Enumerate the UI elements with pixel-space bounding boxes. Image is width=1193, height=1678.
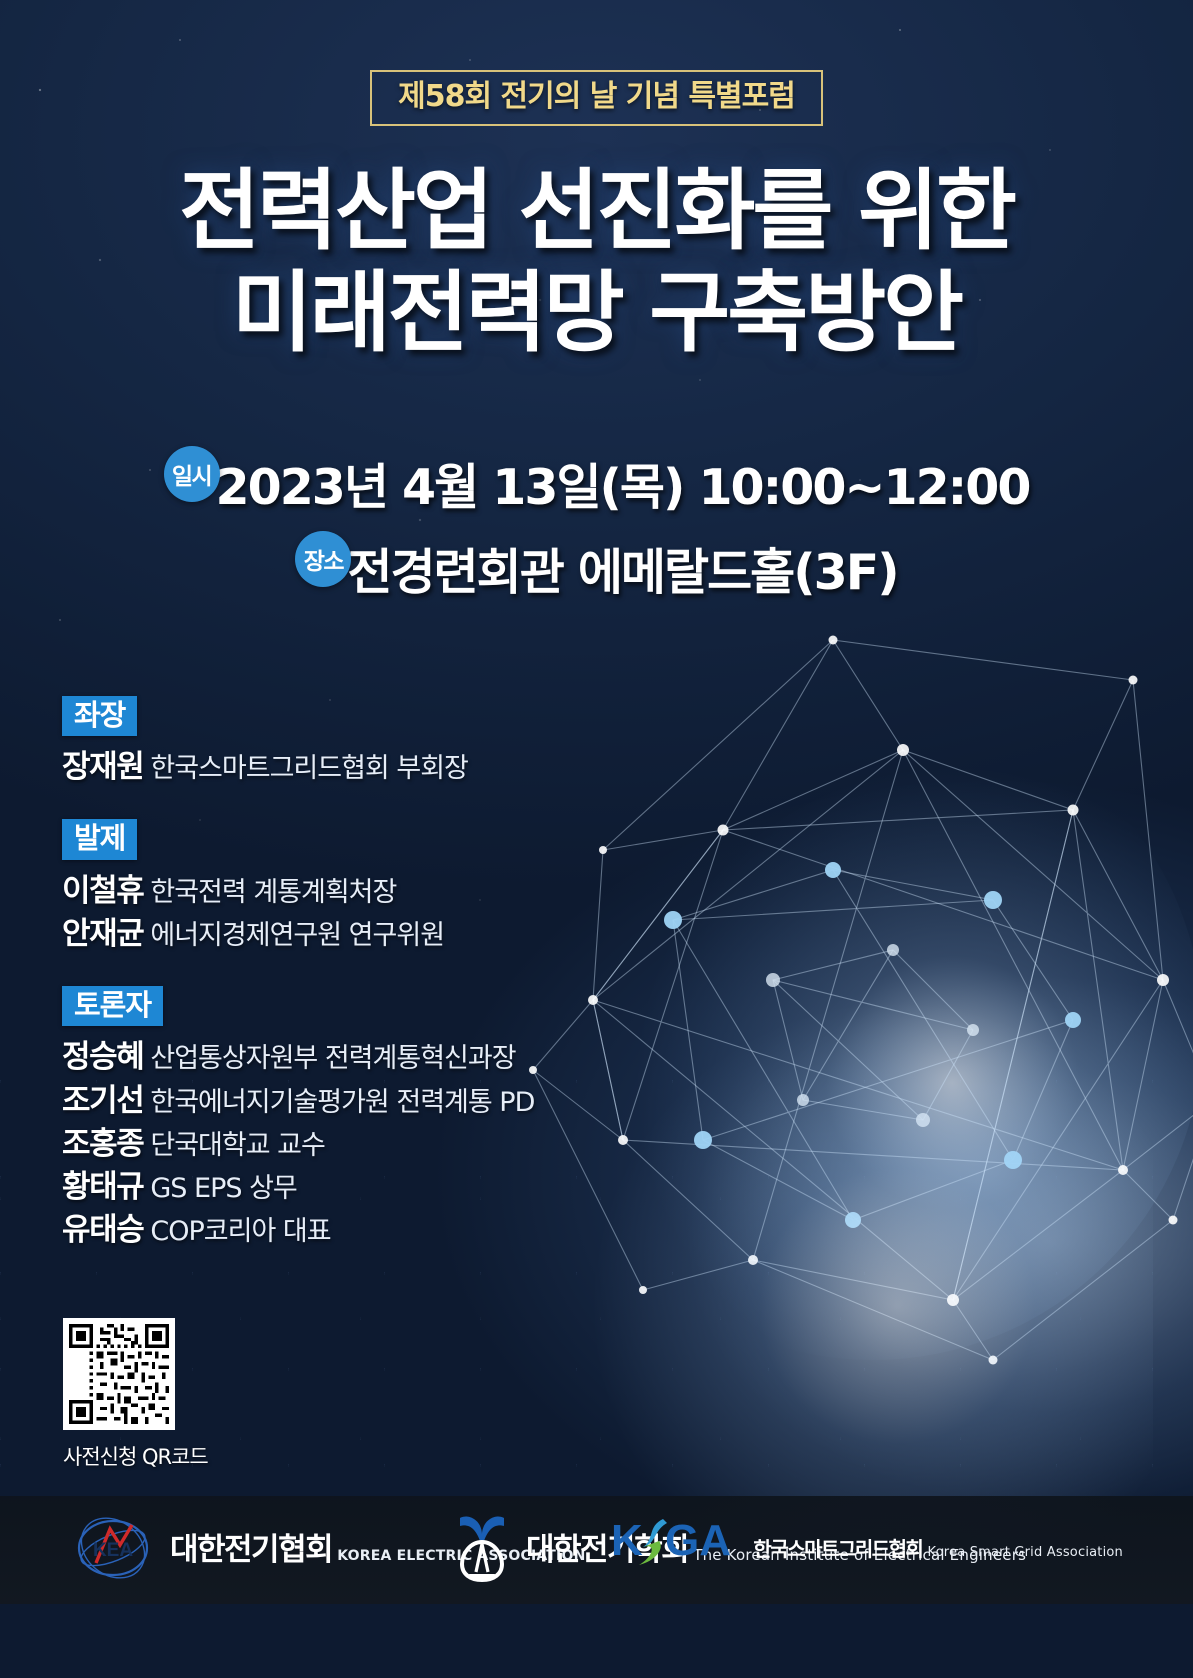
qr-block[interactable]: 사전신청 QR코드 bbox=[63, 1318, 208, 1471]
person-row: 장재원한국스마트그리드협회 부회장 bbox=[62, 748, 622, 787]
svg-text:GA: GA bbox=[665, 1516, 731, 1565]
venue-chip: 장소 bbox=[295, 531, 351, 587]
page-title: 전력산업 선진화를 위한 미래전력망 구축방안 bbox=[0, 160, 1193, 364]
kea-logo-icon: KEA bbox=[70, 1515, 156, 1585]
qr-code-icon[interactable] bbox=[63, 1318, 175, 1430]
person-role: 에너지경제연구원 연구위원 bbox=[150, 920, 444, 951]
event-venue-row: 장소 전경련회관 에메랄드홀(3F) bbox=[0, 533, 1193, 604]
event-poster: 제58회 전기의 날 기념 특별포럼 전력산업 선진화를 위한 미래전력망 구축… bbox=[0, 0, 1193, 1678]
speakers-section: 좌장 장재원한국스마트그리드협회 부회장 발제 이철휴한국전력 계통계획처장 안… bbox=[62, 696, 622, 1250]
event-datetime-row: 일시 2023년 4월 13일(목) 10:00~12:00 bbox=[0, 448, 1193, 519]
person-row: 이철휴한국전력 계통계획처장 bbox=[62, 872, 622, 911]
ksga-name-ko: 한국스마트그리드협회 bbox=[753, 1537, 922, 1561]
ksga-name-en: Korea Smart Grid Association bbox=[928, 1545, 1123, 1560]
person-row: 정승혜산업통상자원부 전력계통혁신과장 bbox=[62, 1038, 622, 1077]
group-tag-presenters: 발제 bbox=[62, 819, 137, 859]
svg-text:K: K bbox=[611, 1516, 643, 1565]
person-name: 안재균 bbox=[62, 916, 143, 952]
kiee-logo-icon bbox=[452, 1512, 512, 1588]
person-name: 이철휴 bbox=[62, 873, 143, 909]
person-name: 유태승 bbox=[62, 1212, 143, 1248]
person-role: 단국대학교 교수 bbox=[150, 1130, 324, 1161]
person-role: GS EPS 상무 bbox=[150, 1173, 296, 1204]
person-name: 조홍종 bbox=[62, 1126, 143, 1162]
kea-name-ko: 대한전기협회 bbox=[170, 1532, 332, 1568]
datetime-chip: 일시 bbox=[164, 446, 220, 502]
speaker-group-panelists: 토론자 정승혜산업통상자원부 전력계통혁신과장 조기선한국에너지기술평가원 전력… bbox=[62, 986, 622, 1250]
title-line-2: 미래전력망 구축방안 bbox=[0, 262, 1193, 364]
forum-badge: 제58회 전기의 날 기념 특별포럼 bbox=[370, 70, 823, 126]
ksga-logo-icon: K GA bbox=[609, 1513, 739, 1587]
qr-caption: 사전신청 QR코드 bbox=[63, 1441, 208, 1471]
event-info: 일시 2023년 4월 13일(목) 10:00~12:00 장소 전경련회관 … bbox=[0, 448, 1193, 618]
group-tag-chair: 좌장 bbox=[62, 696, 137, 736]
person-row: 조홍종단국대학교 교수 bbox=[62, 1125, 622, 1164]
person-role: 한국스마트그리드협회 부회장 bbox=[150, 753, 468, 784]
speaker-group-chair: 좌장 장재원한국스마트그리드협회 부회장 bbox=[62, 696, 622, 787]
group-tag-panelists: 토론자 bbox=[62, 986, 163, 1026]
person-name: 장재원 bbox=[62, 749, 143, 785]
event-datetime: 2023년 4월 13일(목) 10:00~12:00 bbox=[216, 448, 1030, 519]
ksga-logo-text: 한국스마트그리드협회 Korea Smart Grid Association bbox=[753, 1538, 1123, 1563]
person-role: COP코리아 대표 bbox=[150, 1216, 330, 1247]
forum-badge-wrap: 제58회 전기의 날 기념 특별포럼 bbox=[0, 70, 1193, 126]
person-row: 황태규GS EPS 상무 bbox=[62, 1168, 622, 1207]
bottom-strip bbox=[0, 1604, 1193, 1678]
person-name: 조기선 bbox=[62, 1083, 143, 1119]
title-line-1: 전력산업 선진화를 위한 bbox=[0, 160, 1193, 262]
logo-ksga: K GA 한국스마트그리드협회 Korea Smart Grid Associa… bbox=[609, 1513, 1123, 1587]
person-role: 한국전력 계통계획처장 bbox=[150, 877, 396, 908]
person-row: 조기선한국에너지기술평가원 전력계통 PD bbox=[62, 1082, 622, 1121]
person-row: 유태승COP코리아 대표 bbox=[62, 1211, 622, 1250]
person-role: 한국에너지기술평가원 전력계통 PD bbox=[150, 1087, 534, 1118]
person-row: 안재균에너지경제연구원 연구위원 bbox=[62, 915, 622, 954]
event-venue: 전경련회관 에메랄드홀(3F) bbox=[347, 533, 897, 604]
person-role: 산업통상자원부 전력계통혁신과장 bbox=[150, 1043, 515, 1074]
speaker-group-presenters: 발제 이철휴한국전력 계통계획처장 안재균에너지경제연구원 연구위원 bbox=[62, 819, 622, 954]
person-name: 정승혜 bbox=[62, 1039, 143, 1075]
person-name: 황태규 bbox=[62, 1169, 143, 1205]
svg-text:KEA: KEA bbox=[93, 1540, 133, 1561]
footer-logo-bar: KEA 대한전기협회 KOREA ELECTRIC ASSOCIATION 대한… bbox=[0, 1496, 1193, 1604]
